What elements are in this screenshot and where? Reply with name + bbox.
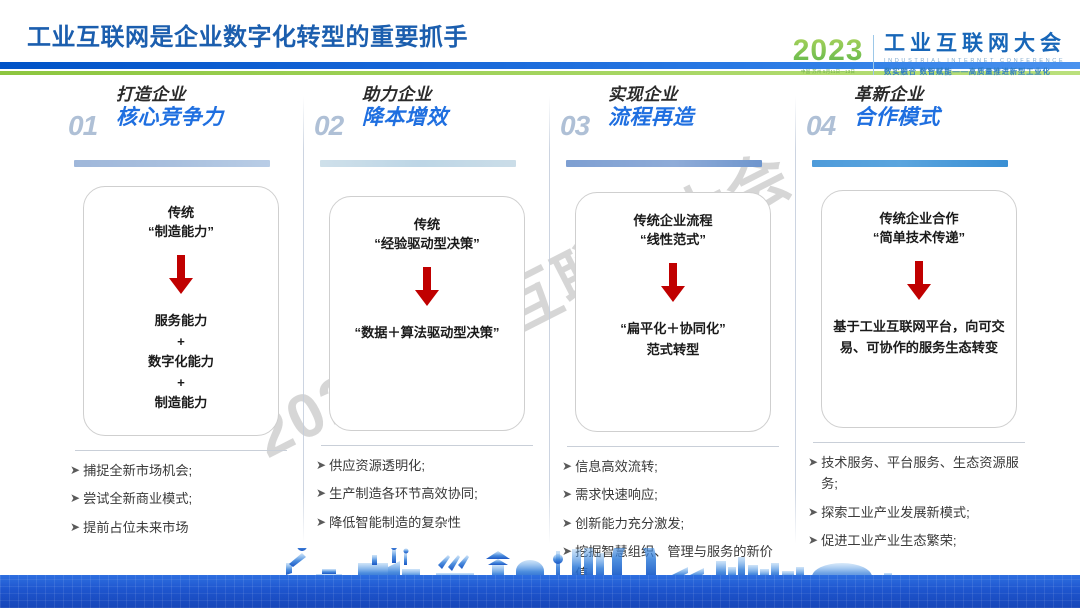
flow-card-bottom-04: 基于工业互联网平台，向可交易、可协作的服务生态转变 (832, 317, 1006, 358)
bullet-list-04: ➤ 技术服务、平台服务、生态资源服务; ➤ 探索工业产业发展新模式; ➤ 促进工… (804, 452, 1034, 552)
column-accent-bar-02 (320, 160, 516, 167)
bullet-text: 生产制造各环节高效协同; (329, 483, 540, 504)
column-subtitle-01: 打造企业 (116, 84, 224, 105)
chevron-right-icon: ➤ (562, 484, 572, 505)
slide-root: 工业互联网是企业数字化转型的重要抓手 2023 中国·苏州 5月11日—13日 … (0, 0, 1080, 608)
footer (0, 548, 1080, 608)
column-accent-bar-03 (566, 160, 762, 167)
chevron-right-icon: ➤ (562, 513, 572, 534)
bullet-divider-04 (813, 442, 1025, 443)
list-item: ➤ 创新能力充分激发; (562, 513, 786, 534)
column-03: 03 实现企业 流程再造 传统企业流程 “线性范式” “扁平化＋协同化” 范式转… (550, 84, 796, 554)
chevron-right-icon: ➤ (316, 483, 326, 504)
flow-card-bottom-01: 服务能力 + 数字化能力 + 制造能力 (148, 311, 214, 413)
down-arrow-icon (660, 263, 686, 303)
columns-container: 01 打造企业 核心竞争力 传统 “制造能力” 服务能力 + 数字化能力 + 制… (0, 84, 1080, 554)
flow-card-top-02: 传统 “经验驱动型决策” (374, 215, 480, 253)
flow-card-02: 传统 “经验驱动型决策” “数据＋算法驱动型决策” (329, 196, 525, 431)
chevron-right-icon: ➤ (70, 460, 80, 481)
column-titles-04: 革新企业 合作模式 (854, 84, 940, 131)
bullet-divider-02 (321, 445, 533, 446)
logo-year: 2023 (793, 36, 864, 66)
list-item: ➤ 供应资源透明化; (316, 455, 540, 476)
column-subtitle-03: 实现企业 (608, 84, 694, 105)
page-title: 工业互联网是企业数字化转型的重要抓手 (27, 17, 468, 52)
list-item: ➤ 需求快速响应; (562, 484, 786, 505)
column-title-01: 核心竞争力 (116, 105, 224, 131)
column-01: 01 打造企业 核心竞争力 传统 “制造能力” 服务能力 + 数字化能力 + 制… (58, 84, 304, 554)
column-header-03: 03 实现企业 流程再造 (558, 84, 788, 164)
bullet-text: 信息高效流转; (575, 456, 786, 477)
column-number-04: 04 (806, 110, 835, 142)
flow-card-01: 传统 “制造能力” 服务能力 + 数字化能力 + 制造能力 (83, 186, 279, 436)
column-titles-02: 助力企业 降本增效 (362, 84, 448, 131)
list-item: ➤ 技术服务、平台服务、生态资源服务; (808, 452, 1032, 495)
list-item: ➤ 信息高效流转; (562, 456, 786, 477)
bullet-list-02: ➤ 供应资源透明化; ➤ 生产制造各环节高效协同; ➤ 降低智能制造的复杂性 (312, 455, 542, 533)
bullet-text: 提前占位未来市场 (83, 517, 294, 538)
column-02: 02 助力企业 降本增效 传统 “经验驱动型决策” “数据＋算法驱动型决策” ➤… (304, 84, 550, 554)
bullet-text: 需求快速响应; (575, 484, 786, 505)
flow-card-03: 传统企业流程 “线性范式” “扁平化＋协同化” 范式转型 (575, 192, 771, 432)
logo-date: 中国·苏州 5月11日—13日 (801, 69, 855, 75)
flow-card-bottom-02: “数据＋算法驱动型决策” (354, 323, 499, 343)
bullet-list-01: ➤ 捕捉全新市场机会; ➤ 尝试全新商业模式; ➤ 提前占位未来市场 (66, 460, 296, 538)
flow-card-top-04: 传统企业合作 “简单技术传递” (873, 209, 965, 247)
list-item: ➤ 生产制造各环节高效协同; (316, 483, 540, 504)
column-subtitle-04: 革新企业 (854, 84, 940, 105)
logo-tagline: 数实融合 数智赋能——高质量推进新型工业化 (884, 66, 1066, 77)
logo-chinese-name: 工业互联网大会 (884, 33, 1066, 55)
column-title-02: 降本增效 (362, 105, 448, 131)
logo-year-block: 2023 中国·苏州 5月11日—13日 (793, 36, 873, 75)
chevron-right-icon: ➤ (316, 512, 326, 533)
bullet-text: 捕捉全新市场机会; (83, 460, 294, 481)
column-accent-bar-01 (74, 160, 270, 167)
column-titles-03: 实现企业 流程再造 (608, 84, 694, 131)
column-04: 04 革新企业 合作模式 传统企业合作 “简单技术传递” 基于工业互联网平台，向… (796, 84, 1042, 554)
bullet-divider-01 (75, 450, 287, 451)
chevron-right-icon: ➤ (70, 517, 80, 538)
column-accent-bar-04 (812, 160, 1008, 167)
bullet-text: 尝试全新商业模式; (83, 488, 294, 509)
column-header-01: 01 打造企业 核心竞争力 (66, 84, 296, 164)
chevron-right-icon: ➤ (808, 502, 818, 523)
list-item: ➤ 提前占位未来市场 (70, 517, 294, 538)
conference-logo: 2023 中国·苏州 5月11日—13日 工业互联网大会 INDUSTRIAL … (793, 32, 1066, 78)
bullet-text: 降低智能制造的复杂性 (329, 512, 540, 533)
column-header-04: 04 革新企业 合作模式 (804, 84, 1034, 164)
column-title-04: 合作模式 (854, 105, 940, 131)
logo-divider (873, 35, 875, 75)
down-arrow-icon (168, 255, 194, 295)
flow-card-top-01: 传统 “制造能力” (148, 203, 214, 241)
logo-text-block: 工业互联网大会 INDUSTRIAL INTERNET CONFERENCE 数… (884, 33, 1066, 76)
chevron-right-icon: ➤ (70, 488, 80, 509)
list-item: ➤ 尝试全新商业模式; (70, 488, 294, 509)
list-item: ➤ 降低智能制造的复杂性 (316, 512, 540, 533)
column-header-02: 02 助力企业 降本增效 (312, 84, 542, 164)
flow-card-bottom-03: “扁平化＋协同化” 范式转型 (620, 319, 726, 360)
bullet-divider-03 (567, 446, 779, 447)
column-titles-01: 打造企业 核心竞争力 (116, 84, 224, 131)
chevron-right-icon: ➤ (808, 452, 818, 495)
column-title-03: 流程再造 (608, 105, 694, 131)
list-item: ➤ 探索工业产业发展新模式; (808, 502, 1032, 523)
column-number-02: 02 (314, 110, 343, 142)
bullet-text: 创新能力充分激发; (575, 513, 786, 534)
down-arrow-icon (906, 261, 932, 301)
list-item: ➤ 捕捉全新市场机会; (70, 460, 294, 481)
bullet-text: 技术服务、平台服务、生态资源服务; (821, 452, 1032, 495)
flow-card-top-03: 传统企业流程 “线性范式” (633, 211, 712, 249)
bullet-text: 供应资源透明化; (329, 455, 540, 476)
column-number-03: 03 (560, 110, 589, 142)
logo-english-name: INDUSTRIAL INTERNET CONFERENCE (884, 58, 1066, 64)
footer-band (0, 575, 1080, 608)
column-subtitle-02: 助力企业 (362, 84, 448, 105)
chevron-right-icon: ➤ (316, 455, 326, 476)
chevron-right-icon: ➤ (562, 456, 572, 477)
bullet-text: 探索工业产业发展新模式; (821, 502, 1032, 523)
column-number-01: 01 (68, 110, 97, 142)
down-arrow-icon (414, 267, 440, 307)
flow-card-04: 传统企业合作 “简单技术传递” 基于工业互联网平台，向可交易、可协作的服务生态转… (821, 190, 1017, 428)
